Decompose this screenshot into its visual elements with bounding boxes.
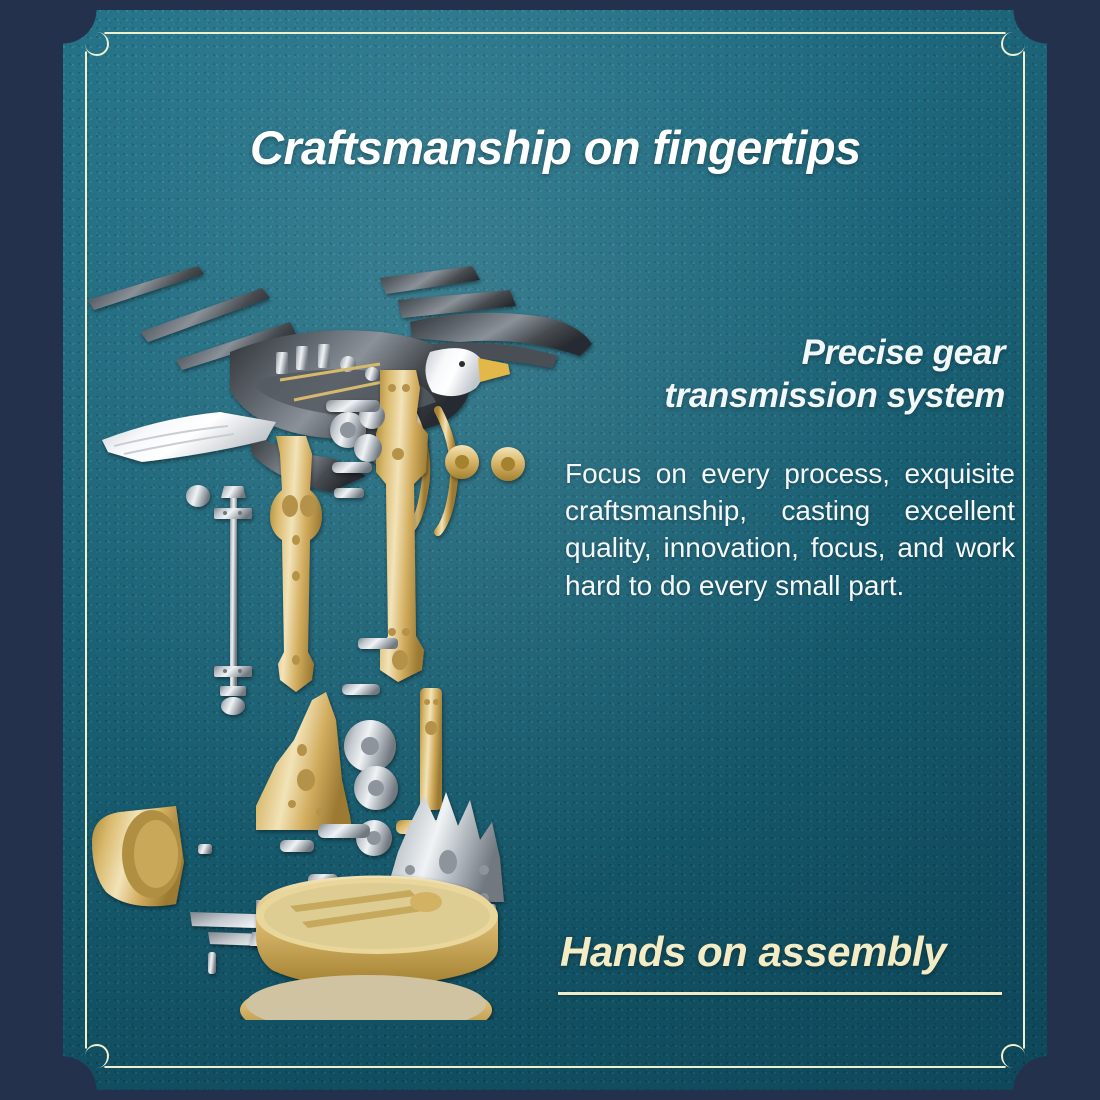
eagle-wing-feather-a — [380, 266, 480, 294]
eagle-beak — [478, 358, 510, 382]
silver-plate-hole-3 — [479, 865, 489, 875]
rail-screw-1 — [208, 952, 216, 974]
column-left-hole-3 — [292, 535, 300, 545]
eagle-detail-3 — [318, 344, 330, 368]
column-left-hole-1 — [282, 495, 298, 517]
eagle-feather-blade-2 — [140, 288, 270, 342]
eagle-tail-feathers — [102, 412, 276, 462]
gold-bar-vertical — [420, 688, 442, 810]
rail-pin-2 — [280, 840, 314, 852]
eagle-detail-5 — [365, 367, 379, 381]
cluster-link-2 — [332, 462, 372, 473]
base-group — [240, 876, 498, 1020]
loose-nut — [186, 485, 210, 507]
cluster-gear-3 — [354, 434, 382, 462]
gold-plate-hole-3 — [288, 800, 296, 808]
column-left-hole-5 — [292, 655, 300, 665]
rod-cap-top — [221, 486, 246, 498]
rod-nut — [220, 686, 246, 696]
column-left-hole-4 — [292, 571, 300, 581]
frame-corner-bottom-right-icon — [1001, 1044, 1025, 1068]
eagle-head — [425, 348, 483, 396]
feature-description: Focus on every process, exquisite crafts… — [565, 455, 1015, 604]
rod-collar-hole-2 — [238, 511, 242, 515]
feature-heading-line-2: transmission system — [575, 375, 1005, 418]
base-oval-disc-top — [246, 975, 486, 1020]
column-right-hole-4 — [388, 628, 396, 636]
cluster-link-3 — [334, 488, 364, 498]
mechanical-eagle-exploded-view — [80, 240, 600, 1020]
eagle-detail-1 — [276, 352, 288, 374]
column-right-hole-6 — [392, 650, 408, 670]
silver-plate-hole-1 — [439, 850, 457, 874]
frame-corner-bottom-left-icon — [85, 1044, 109, 1068]
gold-bar-hole-2 — [433, 699, 439, 705]
feature-heading: Precise gear transmission system — [575, 332, 1005, 417]
small-gear-pair — [445, 445, 525, 481]
page-title: Craftsmanship on fingertips — [250, 120, 861, 175]
product-marketing-image: Craftsmanship on fingertips Precise gear… — [0, 0, 1100, 1100]
base-knob — [410, 892, 442, 912]
silver-plate-hole-2 — [405, 865, 415, 875]
column-right-hole-1 — [388, 384, 396, 392]
column-right-hole-5 — [402, 628, 410, 636]
cylinder-bore-inner — [134, 820, 178, 888]
rod-collar-2 — [214, 666, 252, 677]
mountain-plate-gold — [256, 692, 352, 830]
pin-link-top — [342, 684, 380, 695]
tagline-underline — [558, 992, 1002, 995]
shaft-1 — [318, 824, 370, 838]
gold-bar-hole-3 — [425, 721, 437, 735]
eagle-feather-blade-1 — [88, 266, 204, 310]
rod-collar-hole-1 — [223, 511, 227, 515]
eagle-eye — [459, 361, 465, 367]
rod-foot — [221, 697, 245, 715]
rod-collar-1 — [214, 508, 252, 519]
column-left-hole-2 — [300, 495, 316, 517]
gold-plate-hole-2 — [297, 769, 315, 791]
model-svg — [80, 240, 600, 1020]
gold-plate-hole-4 — [316, 808, 324, 816]
frame-corner-top-right-icon — [1001, 32, 1025, 56]
rod-collar-hole-3 — [223, 669, 227, 673]
feature-heading-line-1: Precise gear — [575, 332, 1005, 375]
gold-bar-hole-1 — [424, 699, 430, 705]
gold-plate-hole-1 — [297, 744, 307, 756]
eagle-detail-2 — [296, 346, 308, 370]
rail-pin-1 — [198, 844, 212, 854]
threaded-rod — [230, 490, 237, 690]
rod-collar-hole-4 — [238, 669, 242, 673]
column-right-hole-3 — [392, 448, 404, 460]
strip-link-1 — [358, 638, 398, 649]
cluster-link-1 — [326, 400, 380, 412]
column-right-hole-2 — [402, 384, 410, 392]
tagline: Hands on assembly — [560, 928, 946, 976]
frame-corner-top-left-icon — [85, 32, 109, 56]
